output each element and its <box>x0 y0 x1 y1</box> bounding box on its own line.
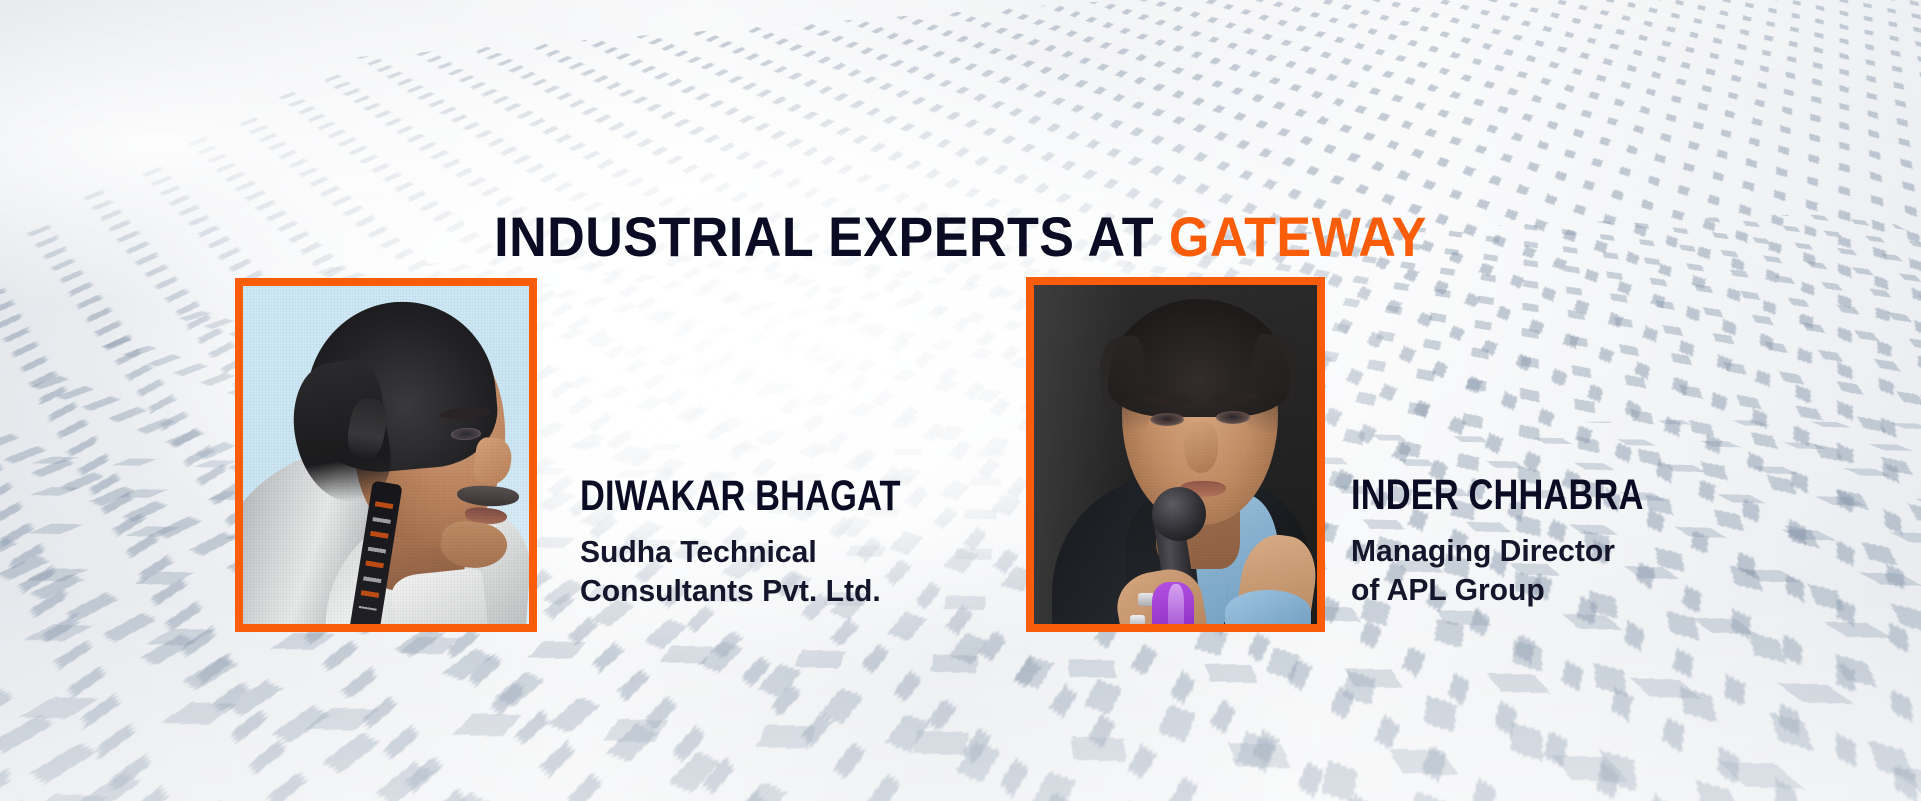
expert-role-2: Managing Director of APL Group <box>1351 531 1706 609</box>
expert-photo-2 <box>1026 277 1325 632</box>
expert-photo-2-image <box>1034 285 1317 624</box>
expert-role-1: Sudha Technical Consultants Pvt. Ltd. <box>580 532 969 610</box>
expert-photo-1 <box>235 278 537 632</box>
expert-caption-1: DIWAKAR BHAGAT Sudha Technical Consultan… <box>580 278 981 610</box>
photo2-grain <box>1034 285 1317 624</box>
expert-name-2: INDER CHHABRA <box>1351 473 1644 517</box>
banner-content: INDUSTRIAL EXPERTS AT GATEWAY <box>0 0 1921 801</box>
expert-caption-2: INDER CHHABRA Managing Director of APL G… <box>1351 277 1717 609</box>
expert-card-2: INDER CHHABRA Managing Director of APL G… <box>1026 277 1717 632</box>
expert-card-1: DIWAKAR BHAGAT Sudha Technical Consultan… <box>235 278 981 632</box>
headline-main-text: INDUSTRIAL EXPERTS AT <box>494 205 1169 268</box>
headline-accent-text: GATEWAY <box>1169 205 1427 268</box>
expert-name-1: DIWAKAR BHAGAT <box>580 474 901 518</box>
industrial-experts-banner: INDUSTRIAL EXPERTS AT GATEWAY <box>0 0 1921 801</box>
expert-photo-1-image <box>243 286 529 624</box>
page-title: INDUSTRIAL EXPERTS AT GATEWAY <box>67 208 1854 266</box>
